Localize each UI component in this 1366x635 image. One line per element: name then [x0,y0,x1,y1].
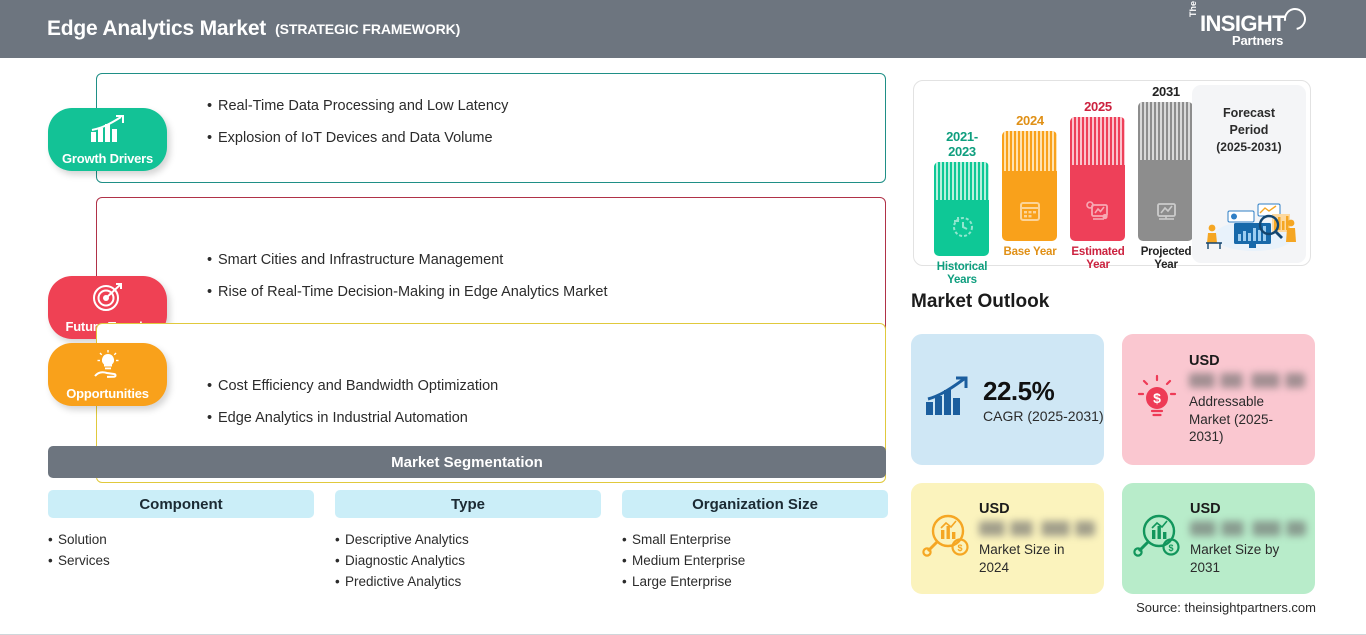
bar-stripes [1002,131,1057,171]
card-label: Addressable Market (2025-2031) [1189,393,1307,446]
bullet-item: Real-Time Data Processing and Low Latenc… [207,99,871,115]
source-attribution: Source: theinsightpartners.com [1136,600,1316,615]
list-item: Solution [48,529,314,550]
study-period-chart: 2021-2023 Historical Years 2024 Base Yea… [913,80,1311,266]
lightbulb-dollar-icon: $ [1132,372,1182,427]
bullet-item: Edge Analytics in Industrial Automation [207,411,871,427]
currency-label: USD [979,501,1097,517]
card-label: Market Size in 2024 [979,541,1097,577]
bullet-item: Cost Efficiency and Bandwidth Optimizati… [207,379,871,395]
page-title: Edge Analytics Market [47,17,266,41]
list-item: Small Enterprise [622,529,888,550]
badge-growth-drivers[interactable]: Growth Drivers [48,108,167,171]
card-market-size-2024[interactable]: $ USD Market Size in 2024 [911,483,1104,594]
chart-bar-estimated: 2025 Estimated Year [1070,99,1126,272]
bullet-item: Explosion of IoT Devices and Data Volume [207,131,871,147]
section-growth-drivers: Real-Time Data Processing and Low Latenc… [96,73,886,183]
page-header: Edge Analytics Market (STRATEGIC FRAMEWO… [0,0,1366,58]
blurred-value [1189,373,1305,388]
segmentation-column-organization-size: Organization Size Small Enterprise Mediu… [622,490,888,592]
market-size-2031-text-block: USD Market Size by 2031 [1190,501,1308,577]
currency-label: USD [1189,353,1307,369]
segment-items: Descriptive Analytics Diagnostic Analyti… [335,529,601,592]
market-size-2024-text-block: USD Market Size in 2024 [979,501,1097,577]
currency-label: USD [1190,501,1308,517]
bar-stripes [1138,102,1193,160]
bar-shape [1002,131,1057,241]
segment-items: Small Enterprise Medium Enterprise Large… [622,529,888,592]
list-item: Services [48,550,314,571]
segmentation-column-type: Type Descriptive Analytics Diagnostic An… [335,490,601,592]
bar-shape [1070,117,1125,241]
blurred-value [1190,521,1306,536]
bar-year-label: 2025 [1070,99,1126,114]
cagr-text-block: 22.5% CAGR (2025-2031) [983,376,1104,424]
segmentation-title: Market Segmentation [391,454,543,471]
data-analysis-illustration [1198,190,1300,257]
bar-shape [1138,102,1193,241]
forecast-line-1: Forecast [1192,105,1306,122]
chart-bar-historical: 2021-2023 Historical Years [934,129,990,287]
card-cagr[interactable]: 22.5% CAGR (2025-2031) [911,334,1104,465]
bar-year-label: 2021-2023 [934,129,990,159]
magnifier-chart-dollar-icon: $ [1132,511,1184,566]
target-dart-icon [90,282,126,317]
forecast-line-2: Period [1192,122,1306,139]
bar-shape [934,162,989,256]
bar-year-label: 2031 [1138,84,1194,99]
segment-items: Solution Services [48,529,314,571]
bar-chart-growth-icon [88,114,128,149]
cagr-label: CAGR (2025-2031) [983,408,1104,424]
presentation-chart-icon [1152,198,1180,229]
infographic-page: Edge Analytics Market (STRATEGIC FRAMEWO… [0,0,1366,635]
bar-chart-arrow-icon [923,374,975,425]
insight-partners-logo[interactable]: The INSIGHT Partners [1188,7,1308,51]
card-label: Market Size by 2031 [1190,541,1308,577]
blurred-value [979,521,1095,536]
list-item: Diagnostic Analytics [335,550,601,571]
hand-lightbulb-icon [87,349,129,386]
svg-text:$: $ [1153,390,1161,406]
card-market-size-2031[interactable]: $ USD Market Size by 2031 [1122,483,1315,594]
analytics-gear-icon [1084,198,1112,229]
list-item: Descriptive Analytics [335,529,601,550]
card-addressable-market[interactable]: $ USD Addressable Market (2025-2031) [1122,334,1315,465]
forecast-line-3: (2025-2031) [1192,139,1306,155]
list-item: Large Enterprise [622,571,888,592]
bar-caption: Historical Years [934,261,990,287]
bar-caption: Base Year [1002,246,1058,259]
magnifier-chart-dollar-icon: $ [921,511,973,566]
bar-stripes [934,162,989,200]
bar-caption: Projected Year [1138,246,1194,272]
bar-year-label: 2024 [1002,113,1058,128]
market-segmentation-header: Market Segmentation [48,446,886,478]
badge-label: Growth Drivers [62,151,153,171]
list-item: Predictive Analytics [335,571,601,592]
bullet-item: Rise of Real-Time Decision-Making in Edg… [207,285,871,301]
market-outlook-title: Market Outlook [911,291,1049,313]
logo-the-text: The [1188,1,1198,17]
logo-partners-text: Partners [1232,33,1283,48]
bar-caption: Estimated Year [1070,246,1126,272]
forecast-label: Forecast Period (2025-2031) [1192,85,1306,155]
forecast-period-panel: Forecast Period (2025-2031) [1192,85,1306,263]
growth-drivers-bullets: Real-Time Data Processing and Low Latenc… [207,74,871,182]
clock-history-icon [949,213,975,244]
page-subtitle: (STRATEGIC FRAMEWORK) [275,21,460,37]
cagr-value: 22.5% [983,376,1104,407]
segmentation-column-component: Component Solution Services [48,490,314,571]
bar-stripes [1070,117,1125,165]
segment-header: Organization Size [622,490,888,518]
list-item: Medium Enterprise [622,550,888,571]
chart-bar-base: 2024 Base Year [1002,113,1058,259]
badge-label: Opportunities [66,386,149,406]
badge-opportunities[interactable]: Opportunities [48,343,167,406]
segment-header: Type [335,490,601,518]
svg-text:$: $ [957,543,962,553]
calendar-icon [1017,198,1043,229]
bullet-item: Smart Cities and Infrastructure Manageme… [207,253,871,269]
addressable-text-block: USD Addressable Market (2025-2031) [1189,353,1307,446]
chart-bar-projected: 2031 Projected Year [1138,84,1194,272]
svg-text:$: $ [1168,543,1173,553]
segment-header: Component [48,490,314,518]
